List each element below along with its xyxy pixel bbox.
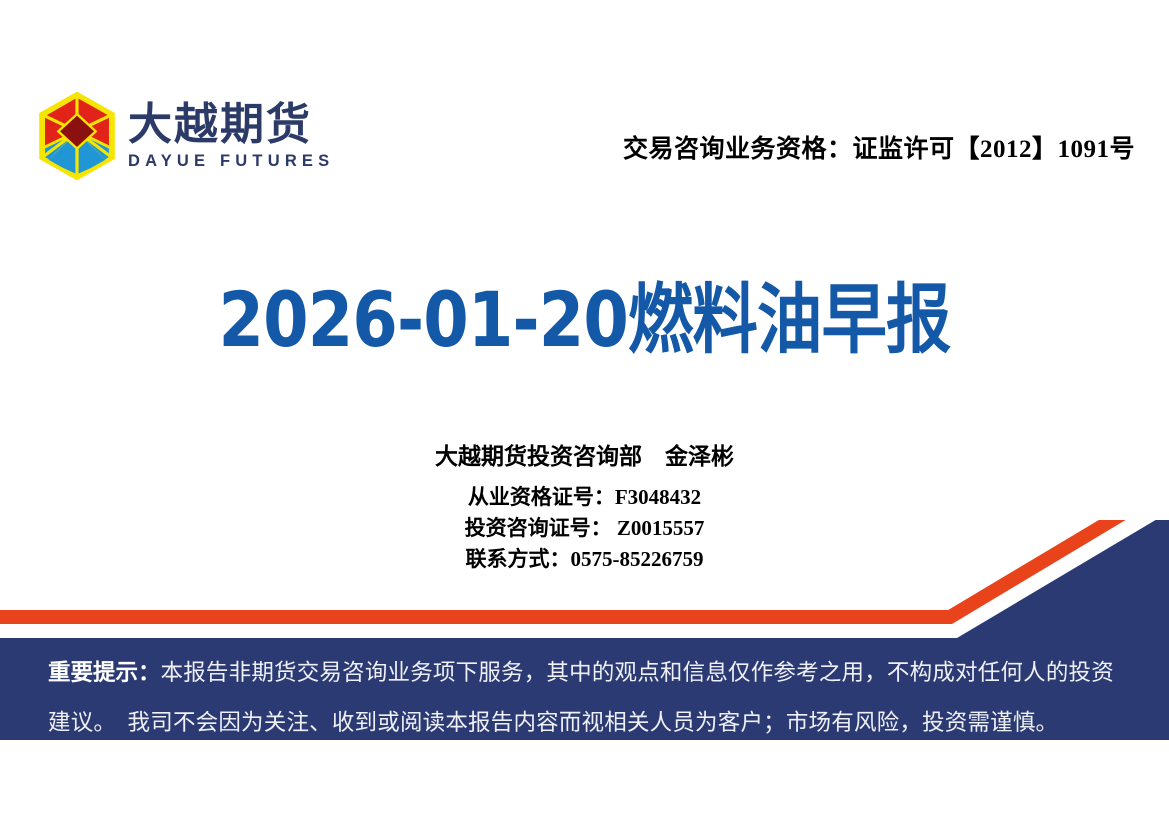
important-notice: 重要提示：本报告非期货交易咨询业务项下服务，其中的观点和信息仅作参考之用，不构成… <box>48 648 1120 748</box>
important-notice-label: 重要提示： <box>48 660 161 685</box>
header: 大越期货 DAYUE FUTURES 交易咨询业务资格：证监许可【2012】10… <box>0 0 1169 200</box>
credential-practice-number: 从业资格证号：F3048432 <box>0 482 1169 513</box>
report-cover-page: 大越期货 DAYUE FUTURES 交易咨询业务资格：证监许可【2012】10… <box>0 0 1169 826</box>
qualification-statement: 交易咨询业务资格：证监许可【2012】1091号 <box>623 129 1135 165</box>
logo-wordmark: 大越期货 DAYUE FUTURES <box>128 102 334 170</box>
important-notice-body: 本报告非期货交易咨询业务项下服务，其中的观点和信息仅作参考之用，不构成对任何人的… <box>48 660 1114 735</box>
author-byline: 大越期货投资咨询部 金泽彬 <box>0 437 1169 471</box>
logo-english-name: DAYUE FUTURES <box>128 153 334 170</box>
company-logo: 大越期货 DAYUE FUTURES <box>38 92 334 180</box>
logo-chinese-name: 大越期货 <box>128 102 334 148</box>
hexagon-cube-logo-icon <box>38 92 116 180</box>
page-title: 2026-01-20燃料油早报 <box>82 282 1087 358</box>
